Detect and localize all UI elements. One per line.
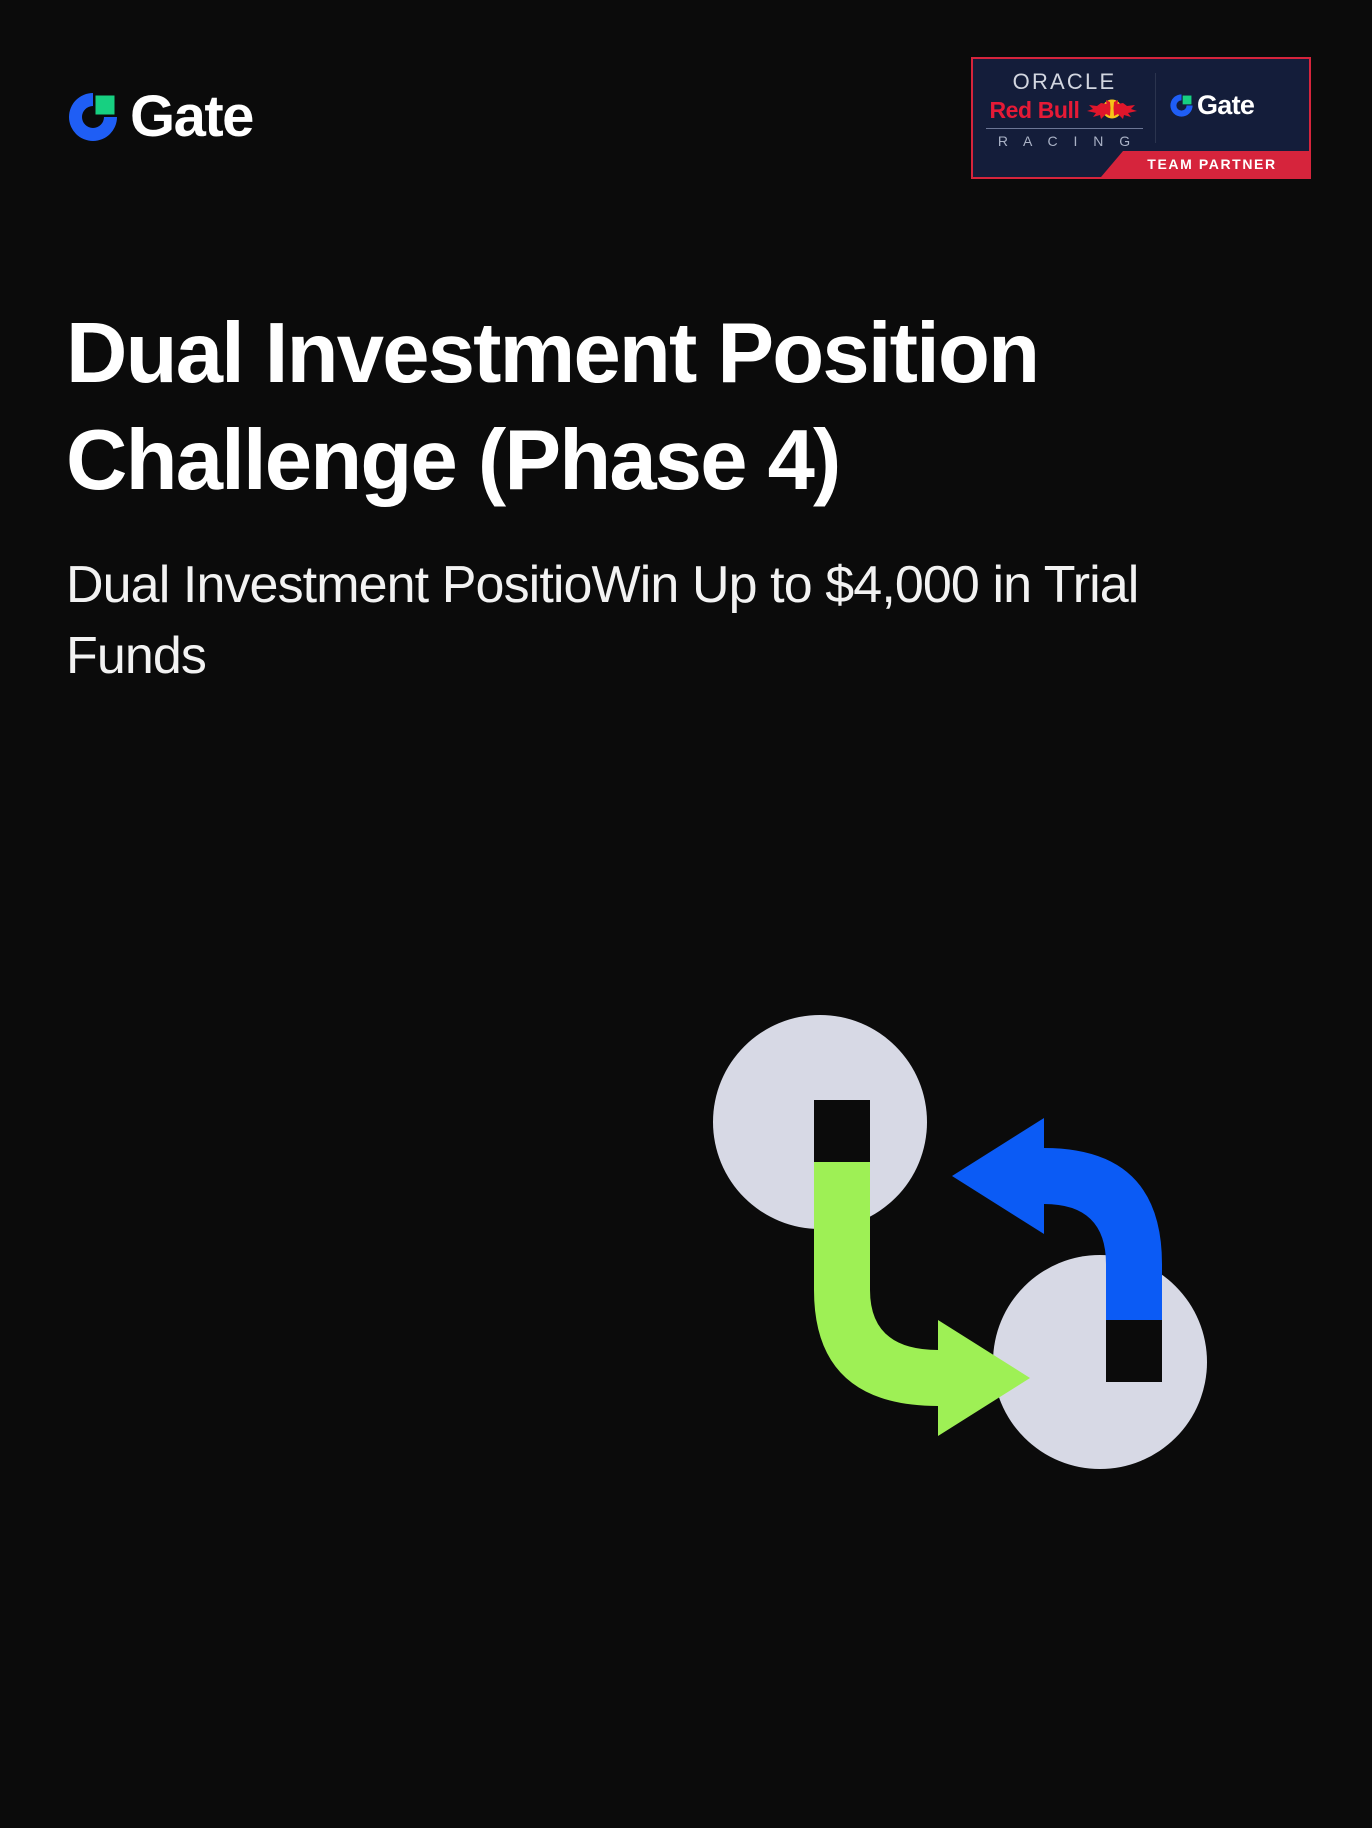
red-bull-row: Red Bull: [982, 98, 1147, 122]
oracle-wordmark: ORACLE: [982, 71, 1147, 93]
red-bull-wordmark: Red Bull: [989, 99, 1079, 122]
badge-gate-name: Gate: [1197, 92, 1254, 119]
team-partner-banner: TEAM PARTNER: [1101, 151, 1309, 177]
red-bull-bulls-icon: [1084, 98, 1140, 122]
notch-top-left: [814, 1100, 870, 1162]
gate-logo-icon: [66, 90, 120, 144]
promo-copy: Dual Investment Position Challenge (Phas…: [66, 300, 1226, 692]
gate-brand-name: Gate: [130, 88, 253, 146]
notch-bottom-right: [1106, 1320, 1162, 1382]
circle-bottom-right: [993, 1255, 1207, 1469]
page-header: Gate ORACLE Red Bull R: [0, 0, 1372, 210]
badge-vertical-divider: [1155, 73, 1156, 143]
page-subtitle: Dual Investment PositioWin Up to $4,000 …: [66, 550, 1226, 691]
red-bull-racing-lockup: ORACLE Red Bull R A C I N G: [982, 71, 1147, 148]
gate-logo-icon: [1169, 93, 1194, 118]
team-partner-label: TEAM PARTNER: [1133, 156, 1276, 172]
red-bull-racing-team-partner-badge: ORACLE Red Bull R A C I N G: [971, 57, 1311, 179]
promo-banner-page: Gate ORACLE Red Bull R: [0, 0, 1372, 1828]
badge-divider-line: [986, 128, 1143, 129]
racing-wordmark: R A C I N G: [982, 134, 1147, 148]
gate-brand-logo[interactable]: Gate: [66, 88, 253, 146]
page-title: Dual Investment Position Challenge (Phas…: [66, 300, 1166, 514]
dual-investment-swap-illustration: [700, 990, 1220, 1490]
badge-gate-logo: Gate: [1169, 92, 1254, 119]
